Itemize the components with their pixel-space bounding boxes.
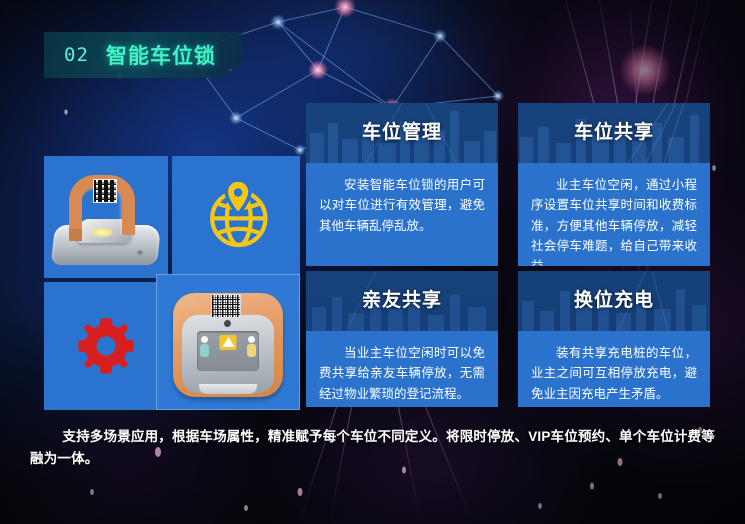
card-title: 换位充电 [518,271,710,331]
feature-card-parking-sharing[interactable]: 车位共享 业主车位空闲，通过小程序设置车位共享时间和收费标准，方便其他车辆停放，… [518,103,710,266]
brand-logo-icon [220,335,237,350]
card-text: 装有共享充电桩的车位，业主之间可互相停放充电，避免业主因充电产生矛盾。 [531,343,697,404]
card-body: 安装智能车位锁的用户可以对车位进行有效管理，避免其他车辆乱停乱放。 [306,163,498,266]
feature-card-family-sharing[interactable]: 亲友共享 当业主车位空闲时可以免费共享给亲友车辆停放，无需经过物业繁琐的登记流程… [306,271,498,407]
tile-gear-icon[interactable] [44,282,168,410]
card-title: 亲友共享 [306,271,498,331]
feature-card-charging-swap[interactable]: 换位充电 装有共享充电桩的车位，业主之间可互相停放充电，避免业主因充电产生矛盾。 [518,271,710,407]
tile-parking-lock-side[interactable] [44,156,168,278]
card-text: 当业主车位空闲时可以免费共享给亲友车辆停放，无需经过物业繁琐的登记流程。 [319,343,485,404]
product-image-grid [44,156,300,410]
parking-lock-side-photo [53,173,159,265]
card-body: 装有共享充电桩的车位，业主之间可互相停放充电，避免业主因充电产生矛盾。 [518,331,710,407]
feature-card-parking-management[interactable]: 车位管理 安装智能车位锁的用户可以对车位进行有效管理，避免其他车辆乱停乱放。 [306,103,498,266]
card-header: 车位共享 [518,103,710,163]
qr-code-icon [211,294,241,318]
tile-globe-icon[interactable] [172,156,300,278]
section-title: 智能车位锁 [106,40,216,70]
gear-icon [76,316,136,376]
card-title: 车位共享 [518,103,710,163]
card-text: 安装智能车位锁的用户可以对车位进行有效管理，避免其他车辆乱停乱放。 [319,175,485,236]
card-title: 车位管理 [306,103,498,163]
globe-location-icon [201,182,271,252]
card-header: 车位管理 [306,103,498,163]
card-body: 业主车位空闲，通过小程序设置车位共享时间和收费标准，方便其他车辆停放，减轻社会停… [518,163,710,266]
footer-summary-text: 支持多场景应用，根据车场属性，精准赋予每个车位不同定义。将限时停放、VIP车位预… [30,426,720,470]
card-text: 业主车位空闲，通过小程序设置车位共享时间和收费标准，方便其他车辆停放，减轻社会停… [531,175,697,266]
card-header: 换位充电 [518,271,710,331]
parking-lock-top-photo [173,293,283,397]
tile-parking-lock-top[interactable] [156,274,300,410]
section-title-banner: 02 智能车位锁 [44,32,242,78]
section-number: 02 [64,44,89,66]
card-body: 当业主车位空闲时可以免费共享给亲友车辆停放，无需经过物业繁琐的登记流程。 [306,331,498,407]
card-header: 亲友共享 [306,271,498,331]
qr-code-icon [93,179,117,203]
